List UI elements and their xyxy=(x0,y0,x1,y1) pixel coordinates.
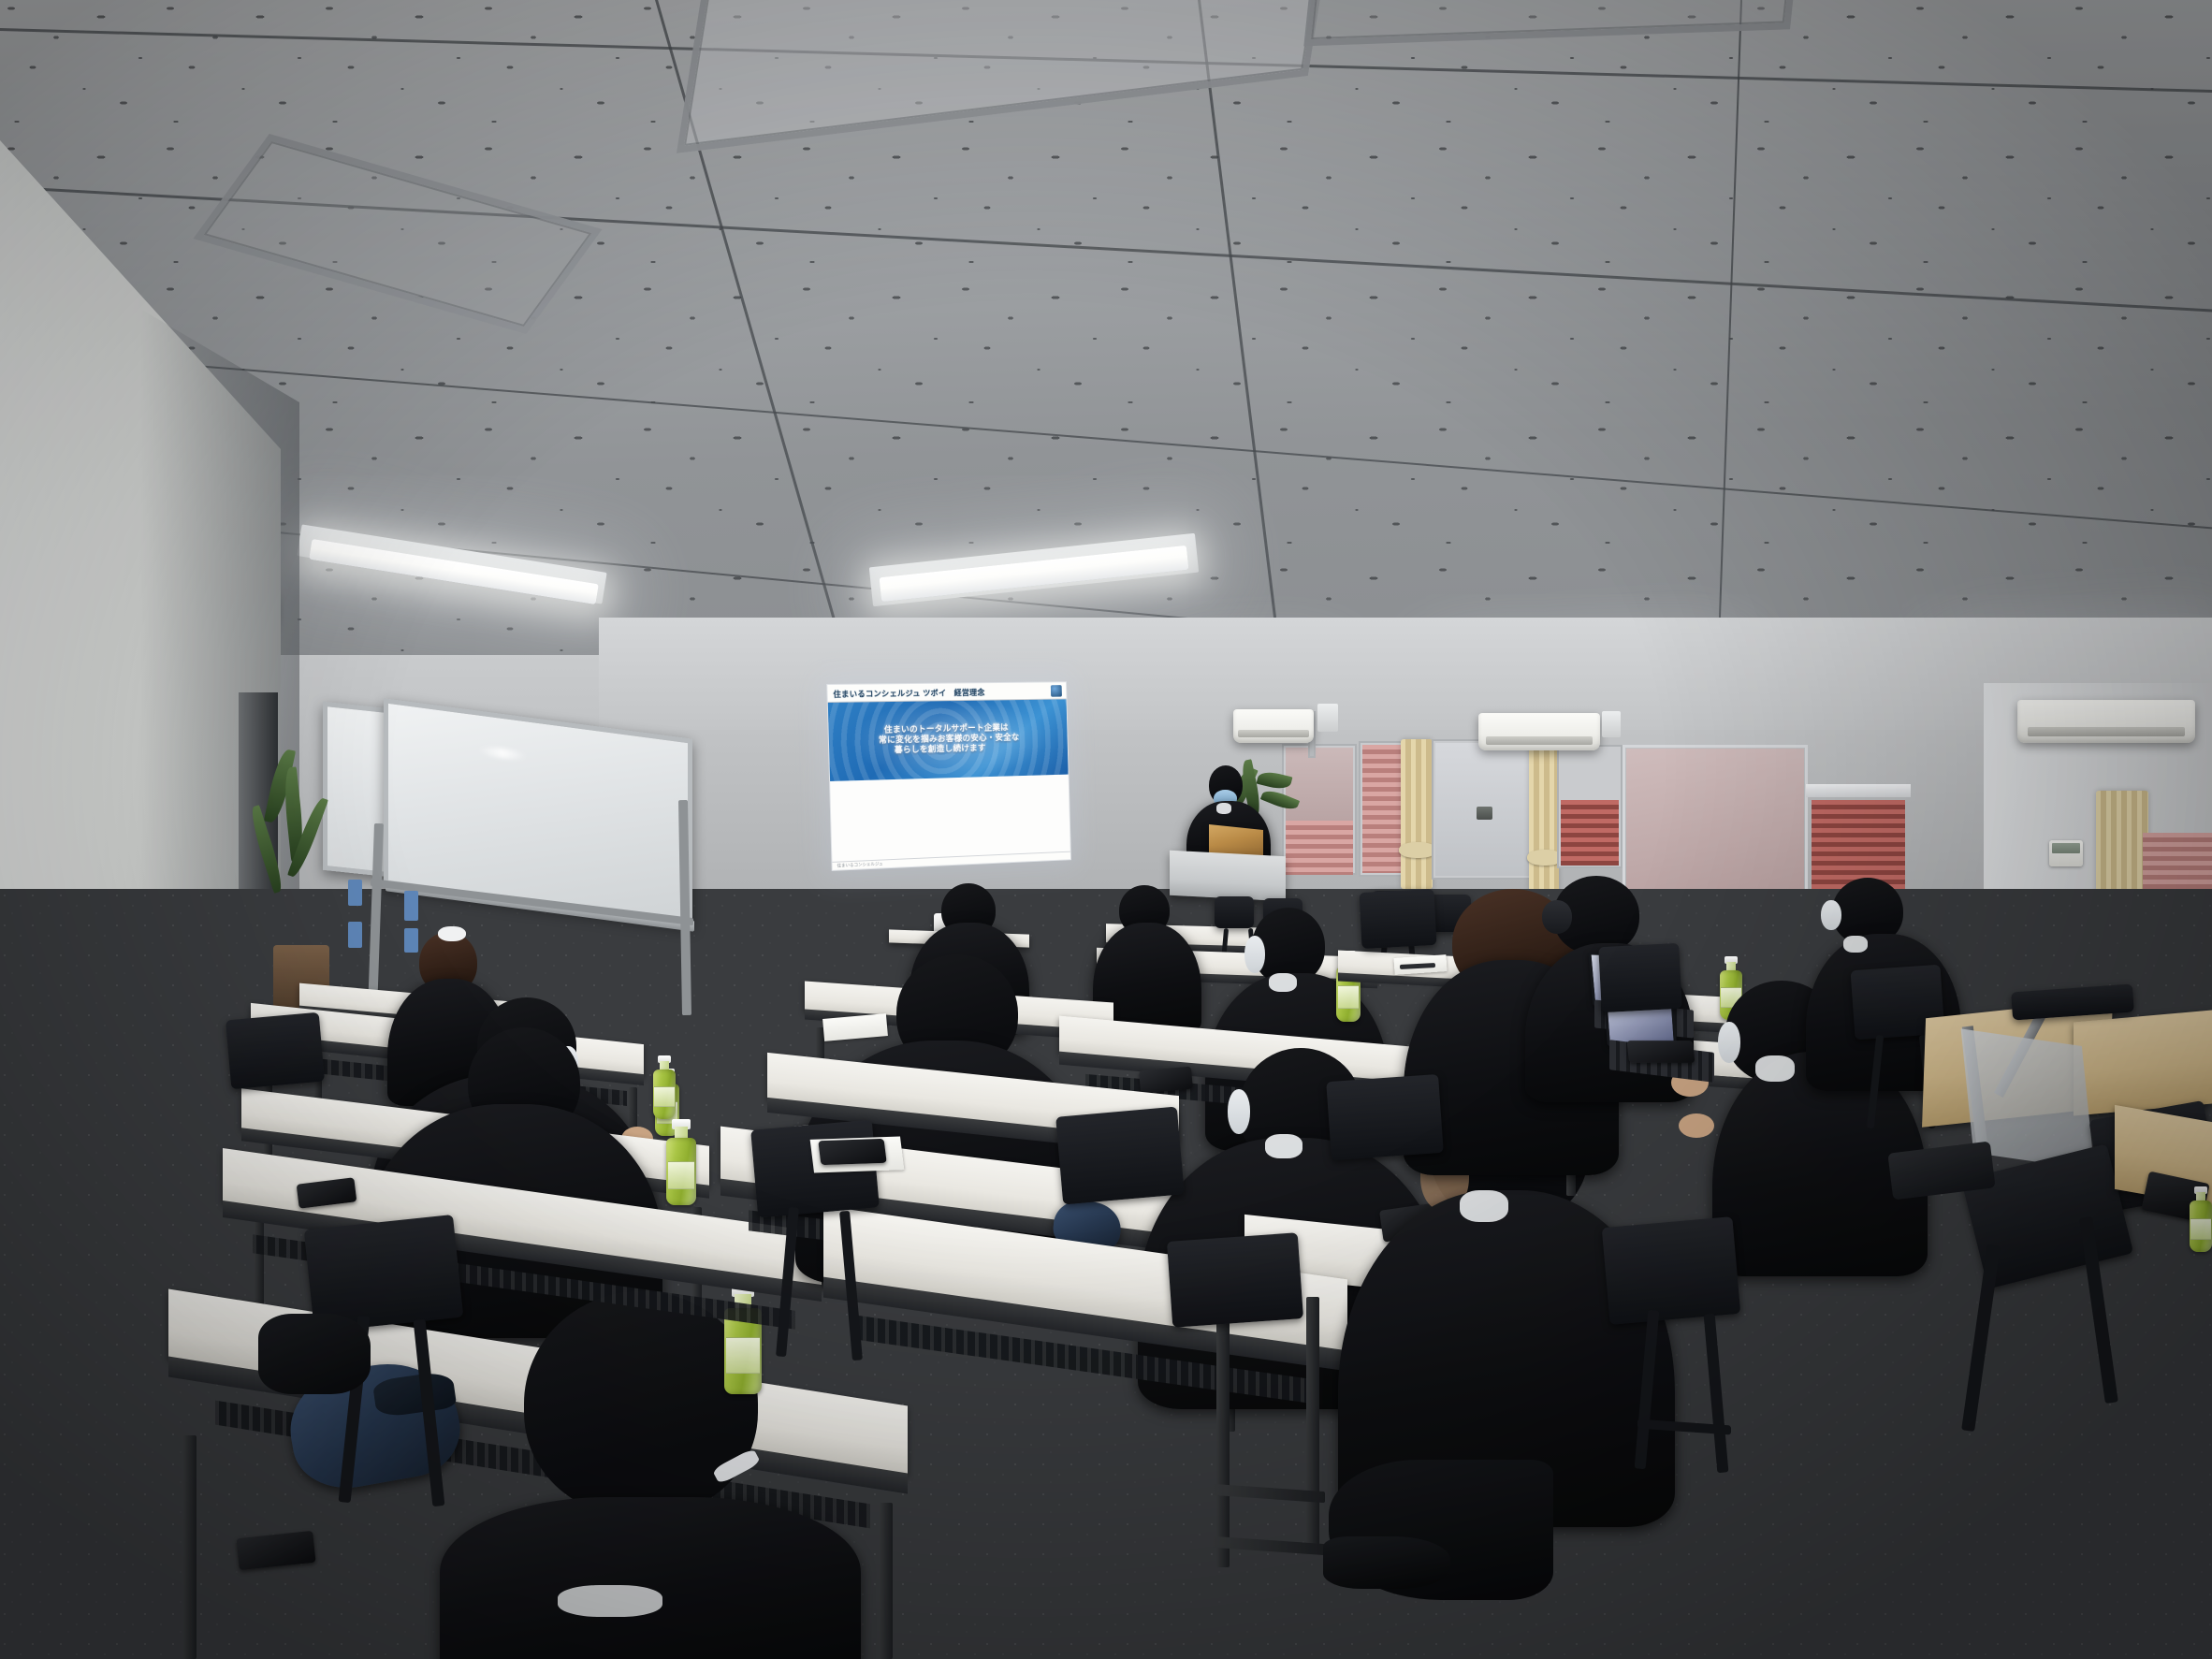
seminar-room-photo: ●○◆ xyxy=(0,0,2212,1659)
slide-title: 住まいるコンシェルジュ ツボイ 経営理念 xyxy=(833,687,984,700)
hair-scrunchie xyxy=(438,926,466,941)
attendee-mask xyxy=(1228,1089,1250,1134)
table-leg xyxy=(1216,1310,1230,1567)
window-blind-4 xyxy=(1561,800,1619,866)
chair-right-1[interactable] xyxy=(1359,889,1436,949)
ceiling-tile-texture xyxy=(0,0,2212,711)
attendee-mask xyxy=(1542,900,1572,934)
tea-bottle[interactable] xyxy=(666,1119,696,1205)
slide-empty-body xyxy=(830,775,1070,862)
attendee-collar xyxy=(558,1585,662,1617)
attendee-head xyxy=(524,1291,758,1516)
attendee-mask xyxy=(1718,1022,1740,1063)
attendee-hand xyxy=(1679,1113,1714,1138)
attendee-shoe xyxy=(1323,1536,1450,1589)
window-sill-right xyxy=(1806,784,1911,797)
bottle-body xyxy=(2190,1201,2212,1252)
whiteboard-glare xyxy=(478,746,527,762)
tea-bottle[interactable] xyxy=(653,1055,676,1119)
bottle-label xyxy=(668,1161,694,1189)
attendee-collar xyxy=(1265,1134,1302,1158)
ac-thermostat-panel[interactable] xyxy=(2049,840,2083,866)
tea-bottle[interactable] xyxy=(724,1284,762,1394)
attendee-mask xyxy=(1244,936,1265,973)
bottle-body xyxy=(666,1138,696,1205)
bottle-body xyxy=(653,1070,676,1119)
curtain-tieback-1 xyxy=(1399,842,1436,858)
company-logo-icon xyxy=(1051,685,1062,697)
ac-bracket-left xyxy=(1317,704,1338,732)
attendee-collar xyxy=(1460,1190,1508,1222)
table-leg xyxy=(1306,1297,1319,1545)
smartphone-on-table-center[interactable] xyxy=(1139,1067,1193,1094)
attendee-torso xyxy=(440,1497,861,1659)
window-latch-3 xyxy=(1477,807,1492,820)
air-conditioner-back-wall-2 xyxy=(1478,713,1600,750)
bottle-label xyxy=(654,1086,674,1107)
chair-left-mid[interactable] xyxy=(226,1012,325,1089)
table-leg xyxy=(880,1503,893,1659)
ac-vent xyxy=(2028,727,2184,736)
slide-body-line-3: 暮らしを創造し続けます xyxy=(895,744,986,755)
smartphone-beside-laptop[interactable] xyxy=(1627,1041,1695,1063)
ac-bracket-right xyxy=(1602,711,1621,737)
whiteboard-magnet[interactable] xyxy=(348,880,362,906)
window-shade-1 xyxy=(1286,748,1353,821)
tea-bottle[interactable] xyxy=(2190,1186,2212,1252)
window-blind-1 xyxy=(1286,821,1353,875)
table-leg xyxy=(183,1435,196,1659)
attendee-collar xyxy=(1269,973,1297,992)
slide-blue-banner: 住まいのトータルサポート企業は 常に変化を掴みお客様の安心・安全な 暮らしを創造… xyxy=(828,699,1069,781)
curtain-back-2 xyxy=(1529,739,1559,900)
dark-bag-under-left-table xyxy=(258,1314,371,1394)
presentation-slide: 住まいるコンシェルジュ ツボイ 経営理念 住まいのトータルサポート企業は 常に変… xyxy=(826,681,1071,871)
projection-screen: 住まいるコンシェルジュ ツボイ 経営理念 住まいのトータルサポート企業は 常に変… xyxy=(826,681,1071,871)
chair-right-2[interactable] xyxy=(1598,943,1682,1012)
ac-vent xyxy=(1238,730,1309,737)
attendee-mask xyxy=(1821,900,1841,930)
podium-base xyxy=(1170,851,1286,901)
chair-center-mid-2[interactable] xyxy=(1326,1074,1444,1160)
whiteboard-magnet[interactable] xyxy=(348,922,362,948)
curtain-back-1 xyxy=(1401,739,1433,889)
slide-footer-left: 住まいるコンシェルジュ xyxy=(837,861,882,868)
presenter-collar xyxy=(1216,803,1231,814)
smartphone-on-notebook[interactable] xyxy=(818,1139,886,1165)
ac-vent xyxy=(1486,736,1593,745)
whiteboard-magnet[interactable] xyxy=(404,891,418,921)
folded-table-2 xyxy=(2074,1011,2212,1116)
air-conditioner-back-wall-1 xyxy=(1233,709,1314,743)
bottle-label xyxy=(2190,1218,2210,1240)
attendee-collar xyxy=(1755,1055,1795,1082)
bottle-label xyxy=(726,1337,759,1374)
whiteboard-magnet[interactable] xyxy=(404,928,418,953)
air-conditioner-right-wall xyxy=(2017,700,2195,743)
chair-center-near-2[interactable] xyxy=(1167,1232,1303,1328)
bottle-label xyxy=(1338,985,1360,1009)
chair-center-mid[interactable] xyxy=(1055,1107,1185,1205)
chair-center-near-1[interactable] xyxy=(1602,1216,1741,1325)
attendee-collar xyxy=(1843,936,1868,953)
chair-back-row[interactable] xyxy=(1215,896,1254,928)
thermostat-display xyxy=(2052,843,2080,853)
